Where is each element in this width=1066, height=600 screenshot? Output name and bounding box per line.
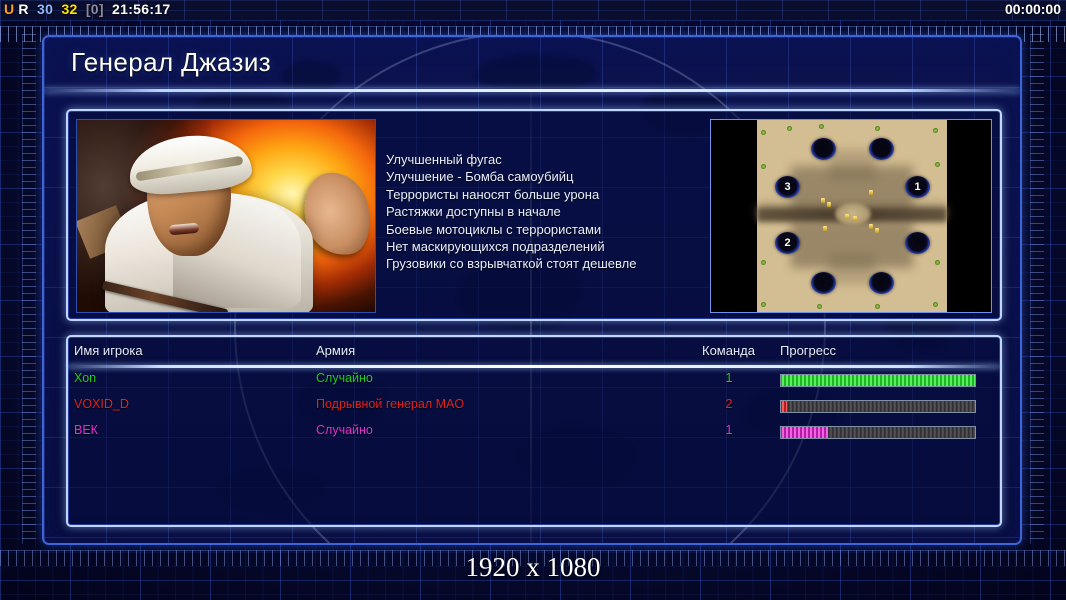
table-row[interactable]: ВЕК Случайно 1: [68, 423, 1000, 448]
ruler-rail-right: [1030, 34, 1044, 544]
ping-value: 30: [37, 1, 53, 17]
progress-fill: [781, 375, 975, 386]
player-progress-bar: [780, 400, 976, 413]
bonus-item: Растяжки доступны в начале: [386, 203, 766, 220]
roster-header-divider: [68, 365, 1000, 368]
bonus-item: Улучшение - Бомба самоубийц: [386, 168, 766, 185]
map-start-position: [869, 138, 894, 160]
map-start-position: [869, 272, 894, 294]
player-army: Случайно: [316, 423, 373, 437]
player-roster-panel: Имя игрока Армия Команда Прогресс Хоn Сл…: [66, 335, 1002, 527]
status-topbar: UR 30 32 [0] 21:56:17 00:00:00: [0, 0, 1066, 20]
player-army: Случайно: [316, 371, 373, 385]
table-row[interactable]: VOXID_D Подрывной генерал MAO 2: [68, 397, 1000, 422]
game-lobby-screen: UR 30 32 [0] 21:56:17 00:00:00: [0, 0, 1066, 600]
player-name: VOXID_D: [74, 397, 129, 411]
map-start-position: [811, 272, 836, 294]
bonus-item: Нет маскирующихся подразделений: [386, 238, 766, 255]
map-preview[interactable]: 3 1 2: [710, 119, 992, 313]
download-indicator-label: R: [18, 1, 28, 17]
column-header-team: Команда: [702, 343, 755, 358]
roster-header-row: Имя игрока Армия Команда Прогресс: [68, 343, 1000, 365]
bonus-item: Террористы наносят больше урона: [386, 186, 766, 203]
map-start-position-2: 2: [775, 232, 800, 254]
topbar-stats: UR 30 32 [0] 21:56:17: [4, 1, 175, 17]
map-start-position-3: 3: [775, 176, 800, 198]
player-progress-bar: [780, 426, 976, 439]
table-row[interactable]: Хоn Случайно 1: [68, 371, 1000, 396]
briefing-panel: Улучшенный фугас Улучшение - Бомба самоу…: [66, 109, 1002, 321]
map-image: 3 1 2: [757, 120, 947, 313]
map-start-position: [905, 232, 930, 254]
player-name: Хоn: [74, 371, 96, 385]
map-center-feature: [835, 202, 871, 226]
player-team: 1: [702, 423, 756, 437]
progress-fill: [781, 427, 828, 438]
panel-header: Генерал Джазиз: [44, 37, 1020, 95]
player-team: 2: [702, 397, 756, 411]
map-start-position: [811, 138, 836, 160]
bonus-item: Боевые мотоциклы с террористами: [386, 221, 766, 238]
map-start-position-1: 1: [905, 176, 930, 198]
progress-fill: [781, 401, 787, 412]
player-army: Подрывной генерал MAO: [316, 397, 464, 411]
upload-indicator-label: U: [4, 1, 14, 17]
fps-value: 32: [61, 1, 77, 17]
system-clock: 21:56:17: [112, 1, 170, 17]
bracket-value: [0]: [86, 1, 104, 17]
general-portrait: [76, 119, 376, 313]
bonus-item: Грузовики со взрывчаткой стоят дешевле: [386, 255, 766, 272]
ruler-rail-left: [22, 34, 36, 544]
player-progress-bar: [780, 374, 976, 387]
player-name: ВЕК: [74, 423, 98, 437]
column-header-name: Имя игрока: [74, 343, 143, 358]
main-panel: Генерал Джазиз: [42, 35, 1022, 545]
bonus-item: Улучшенный фугас: [386, 151, 766, 168]
resolution-label: 1920 x 1080: [0, 552, 1066, 583]
player-team: 1: [702, 371, 756, 385]
match-timer: 00:00:00: [1005, 1, 1061, 17]
title-divider: [44, 89, 1020, 92]
page-title: Генерал Джазиз: [71, 47, 271, 78]
general-bonus-list: Улучшенный фугас Улучшение - Бомба самоу…: [386, 151, 766, 273]
column-header-progress: Прогресс: [780, 343, 836, 358]
column-header-army: Армия: [316, 343, 355, 358]
